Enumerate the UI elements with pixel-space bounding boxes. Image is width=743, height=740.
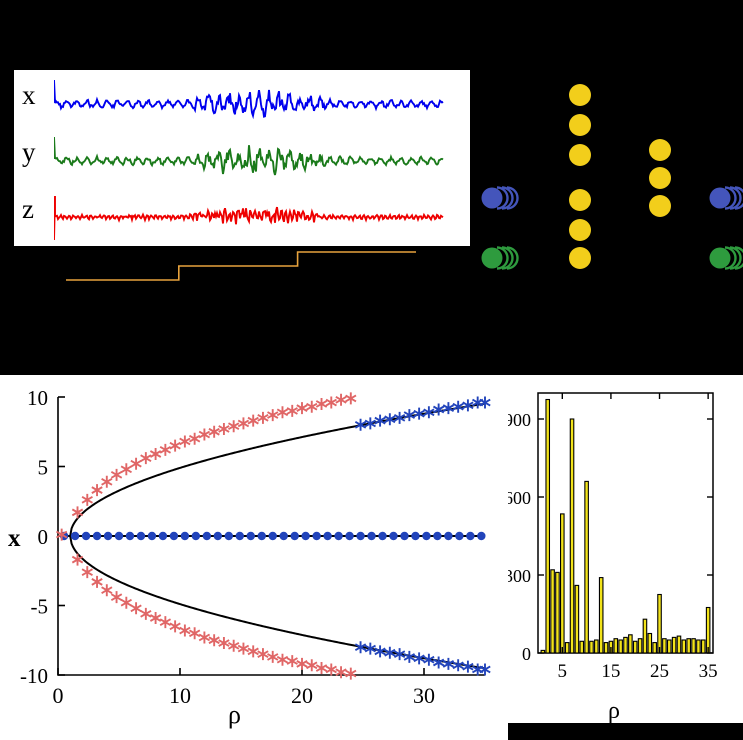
histogram-bar — [556, 572, 560, 653]
bifurcation-marker-train-markers-lower-in-range — [287, 655, 297, 667]
bifurcation-marker-train-markers-upper-in-range — [326, 397, 336, 409]
histogram-bar — [575, 585, 579, 653]
bifurcation-marker-extrapolation-markers-lower — [472, 663, 482, 675]
bifurcation-marker-train-markers-upper-in-range — [238, 417, 248, 429]
histogram-y-tick-label: 600 — [508, 488, 531, 508]
bifurcation-marker-train-markers-lower-in-range — [170, 620, 180, 632]
bifurcation-marker-train-markers-lower-in-range — [121, 597, 131, 609]
bifurcation-y-tick-label: -5 — [31, 595, 49, 619]
bifurcation-marker-train-markers-upper-in-range — [141, 452, 151, 464]
input-node-in-y — [482, 248, 503, 269]
bifurcation-y-tick-label: 5 — [38, 456, 49, 480]
bifurcation-marker-train-markers-lower-in-range — [297, 658, 307, 670]
histogram-bar — [546, 400, 550, 654]
bifurcation-panel: -10-505100102030 — [0, 375, 508, 740]
bifurcation-marker-train-markers-trivial — [247, 532, 255, 540]
output-node-out-y — [710, 248, 731, 269]
histogram-bar — [599, 578, 603, 653]
bifurcation-marker-train-markers-trivial — [378, 532, 386, 540]
bifurcation-marker-train-markers-trivial — [236, 532, 244, 540]
bifurcation-marker-train-markers-lower-in-range — [268, 651, 278, 663]
bifurcation-marker-train-markers-trivial — [280, 532, 288, 540]
network-nodes-svg — [470, 70, 743, 280]
histogram-bar — [614, 639, 618, 653]
bifurcation-marker-train-markers-trivial — [323, 532, 331, 540]
bifurcation-marker-train-markers-lower-in-range — [228, 640, 238, 652]
bifurcation-x-axis-label: ρ — [228, 700, 241, 730]
bifurcation-marker-train-markers-trivial — [466, 532, 474, 540]
timeseries-trace-z — [54, 192, 444, 244]
hidden1-node-4 — [569, 189, 591, 211]
bifurcation-marker-train-markers-trivial — [389, 532, 397, 540]
bifurcation-marker-train-markers-trivial — [71, 532, 79, 540]
bifurcation-marker-train-markers-trivial — [159, 532, 167, 540]
bifurcation-marker-train-markers-trivial — [203, 532, 211, 540]
bifurcation-marker-train-markers-lower-in-range — [111, 591, 121, 603]
bifurcation-marker-train-markers-upper-in-range — [131, 458, 141, 470]
bifurcation-marker-train-markers-upper-in-range — [180, 435, 190, 447]
bifurcation-marker-extrapolation-markers-upper — [480, 397, 490, 409]
histogram-bar — [629, 635, 633, 653]
histogram-x-tick-label: 15 — [601, 661, 620, 682]
bifurcation-marker-train-markers-trivial — [170, 532, 178, 540]
histogram-bar — [570, 419, 574, 653]
bifurcation-marker-train-markers-trivial — [269, 532, 277, 540]
bifurcation-marker-train-markers-upper-in-range — [209, 426, 219, 438]
histogram-y-tick-label: 0 — [522, 644, 531, 664]
histogram-bar — [551, 570, 555, 653]
histogram-bar — [638, 639, 642, 653]
bifurcation-marker-extrapolation-markers-upper — [433, 404, 443, 416]
bifurcation-lower-branch-curve — [70, 536, 485, 668]
histogram-bar — [687, 639, 691, 653]
bifurcation-marker-train-markers-upper-in-range — [82, 494, 92, 506]
histogram-y-tick-label: 900 — [508, 410, 531, 430]
histogram-bar — [663, 639, 667, 653]
histogram-bar — [682, 640, 686, 653]
histogram-bar — [561, 514, 565, 653]
bifurcation-marker-train-markers-upper-in-range — [219, 423, 229, 435]
bifurcation-marker-train-markers-upper-in-range — [72, 506, 82, 518]
bifurcation-x-tick-label: 20 — [291, 683, 313, 708]
bifurcation-marker-train-markers-trivial — [290, 532, 298, 540]
bifurcation-marker-train-markers-trivial — [115, 532, 123, 540]
histogram-bar — [580, 641, 584, 653]
neural-network-diagram — [470, 70, 743, 280]
bifurcation-chart: -10-505100102030 — [0, 375, 508, 740]
bifurcation-marker-train-markers-lower-in-range — [219, 637, 229, 649]
bifurcation-marker-train-markers-lower-in-range — [307, 659, 317, 671]
bifurcation-marker-train-markers-lower-in-range — [346, 668, 356, 680]
histogram-bar — [697, 640, 701, 653]
bifurcation-marker-train-markers-lower-in-range — [92, 576, 102, 588]
bifurcation-marker-train-markers-trivial — [137, 532, 145, 540]
bifurcation-marker-extrapolation-markers-lower — [480, 663, 490, 675]
bifurcation-marker-train-markers-upper-in-range — [121, 463, 131, 475]
bifurcation-marker-train-markers-trivial — [334, 532, 342, 540]
bifurcation-marker-train-markers-lower-in-range — [209, 634, 219, 646]
bifurcation-marker-train-markers-lower-in-range — [199, 631, 209, 643]
histogram-bar — [604, 643, 608, 653]
bifurcation-marker-train-markers-lower-in-range — [180, 625, 190, 637]
bifurcation-marker-train-markers-upper-in-range — [170, 440, 180, 452]
bifurcation-marker-train-markers-lower-in-range — [316, 662, 326, 674]
bifurcation-marker-train-markers-lower-in-range — [238, 643, 248, 655]
rho-step-signal — [60, 240, 420, 290]
histogram-bar — [702, 640, 706, 653]
bifurcation-marker-train-markers-trivial — [444, 532, 452, 540]
bifurcation-marker-train-markers-trivial — [192, 532, 200, 540]
bifurcation-marker-train-markers-lower-in-range — [82, 566, 92, 578]
bifurcation-marker-train-markers-trivial — [477, 532, 485, 540]
bifurcation-marker-train-markers-trivial — [104, 532, 112, 540]
hidden2-node-3 — [649, 195, 671, 217]
bifurcation-marker-train-markers-upper-in-range — [160, 444, 170, 456]
histogram-bar — [633, 641, 637, 653]
bifurcation-y-tick-label: 10 — [27, 386, 48, 410]
bifurcation-marker-train-markers-upper-in-range — [248, 415, 258, 427]
histogram-x-axis-label: ρ — [608, 698, 620, 725]
histogram-bar — [706, 608, 710, 654]
bifurcation-marker-train-markers-trivial — [411, 532, 419, 540]
bifurcation-marker-train-markers-upper-in-range — [346, 392, 356, 404]
histogram-y-tick-label: 300 — [508, 566, 531, 586]
timeseries-trace-x — [54, 78, 444, 130]
rho-histogram-chart: 03006009005152535 — [508, 375, 743, 723]
histogram-bar — [585, 481, 589, 653]
bifurcation-marker-train-markers-upper-in-range — [258, 412, 268, 424]
bifurcation-marker-train-markers-upper-in-range — [336, 394, 346, 406]
hidden2-node-2 — [649, 167, 671, 189]
bifurcation-marker-train-markers-trivial — [258, 532, 266, 540]
bifurcation-y-tick-label: -10 — [20, 664, 48, 688]
input-node-in-x — [482, 188, 503, 209]
bifurcation-marker-train-markers-trivial — [148, 532, 156, 540]
histogram-bar — [658, 595, 662, 654]
timeseries-label-z: z — [22, 196, 34, 223]
bifurcation-x-tick-label: 0 — [53, 683, 64, 708]
hidden1-node-6 — [569, 247, 591, 269]
bifurcation-x-tick-label: 30 — [413, 683, 435, 708]
bifurcation-marker-train-markers-lower-in-range — [160, 616, 170, 628]
bifurcation-marker-train-markers-trivial — [181, 532, 189, 540]
bifurcation-marker-train-markers-lower-in-range — [102, 584, 112, 596]
timeseries-label-x: x — [22, 82, 36, 109]
bifurcation-marker-train-markers-lower-in-range — [189, 627, 199, 639]
bifurcation-marker-train-markers-trivial — [93, 532, 101, 540]
bifurcation-marker-train-markers-trivial — [433, 532, 441, 540]
bifurcation-marker-train-markers-trivial — [367, 532, 375, 540]
bifurcation-marker-train-markers-lower-in-range — [248, 645, 258, 657]
bifurcation-marker-train-markers-trivial — [345, 532, 353, 540]
hidden1-node-2 — [569, 114, 591, 136]
bifurcation-marker-train-markers-trivial — [455, 532, 463, 540]
histogram-bar — [692, 639, 696, 653]
bifurcation-marker-train-markers-lower-in-range — [277, 654, 287, 666]
timeseries-panel: x y z — [14, 70, 470, 246]
bifurcation-marker-extrapolation-markers-lower — [433, 656, 443, 668]
bifurcation-marker-train-markers-lower-in-range — [131, 602, 141, 614]
bifurcation-marker-train-markers-trivial — [422, 532, 430, 540]
bifurcation-marker-train-markers-upper-in-range — [297, 402, 307, 414]
bifurcation-marker-train-markers-upper-in-range — [268, 409, 278, 421]
figure-root: x y z -10-505100102030 x ρ 0300600900515… — [0, 0, 743, 740]
histogram-bar — [668, 640, 672, 653]
bifurcation-marker-train-markers-trivial — [126, 532, 134, 540]
histogram-x-tick-label: 35 — [699, 661, 718, 682]
bifurcation-marker-train-markers-lower-in-range — [336, 666, 346, 678]
histogram-bar — [672, 637, 676, 653]
bifurcation-marker-train-markers-trivial — [301, 532, 309, 540]
bifurcation-marker-train-markers-lower-in-range — [150, 612, 160, 624]
bifurcation-marker-train-markers-upper-in-range — [316, 398, 326, 410]
bifurcation-marker-train-markers-upper-in-range — [189, 433, 199, 445]
bifurcation-marker-train-markers-trivial — [400, 532, 408, 540]
bifurcation-y-tick-label: 0 — [38, 525, 49, 549]
bifurcation-marker-train-markers-trivial — [82, 532, 90, 540]
bifurcation-marker-train-markers-lower-in-range — [258, 648, 268, 660]
bifurcation-marker-train-markers-trivial — [356, 532, 364, 540]
bifurcation-marker-train-markers-upper-in-range — [199, 429, 209, 441]
timeseries-trace-y — [54, 135, 444, 187]
histogram-x-tick-label: 25 — [650, 661, 669, 682]
bifurcation-x-tick-label: 10 — [169, 683, 191, 708]
bifurcation-upper-branch-curve — [70, 404, 485, 536]
histogram-x-tick-label: 5 — [558, 661, 568, 682]
hidden2-node-1 — [649, 139, 671, 161]
bifurcation-y-axis-label: x — [8, 525, 21, 553]
bifurcation-marker-train-markers-upper-in-range — [228, 420, 238, 432]
histogram-bar — [677, 636, 681, 653]
bifurcation-marker-train-markers-upper-in-range — [307, 401, 317, 413]
bifurcation-marker-train-markers-upper-in-range — [92, 484, 102, 496]
output-node-out-x — [710, 188, 731, 209]
histogram-bar — [595, 640, 599, 653]
bifurcation-marker-train-markers-upper-in-range — [150, 448, 160, 460]
bifurcation-marker-train-markers-lower-in-range — [326, 663, 336, 675]
bifurcation-marker-train-markers-upper-in-range — [287, 405, 297, 417]
bifurcation-marker-extrapolation-markers-upper — [472, 397, 482, 409]
hidden1-node-1 — [569, 84, 591, 106]
bifurcation-marker-train-markers-upper-in-range — [102, 476, 112, 488]
histogram-bar — [643, 619, 647, 653]
histogram-bar — [648, 634, 652, 654]
histogram-bar — [590, 641, 594, 653]
histogram-bar — [565, 643, 569, 653]
bifurcation-marker-train-markers-trivial — [312, 532, 320, 540]
bifurcation-marker-train-markers-trivial — [214, 532, 222, 540]
histogram-panel: 03006009005152535 — [508, 375, 743, 723]
timeseries-label-y: y — [22, 139, 36, 166]
bifurcation-marker-train-markers-trivial — [225, 532, 233, 540]
bifurcation-marker-train-markers-upper-in-range — [111, 469, 121, 481]
bifurcation-marker-train-markers-upper-in-range — [277, 406, 287, 418]
hidden1-node-5 — [569, 219, 591, 241]
bifurcation-marker-train-markers-lower-in-range — [72, 554, 82, 566]
hidden1-node-3 — [569, 144, 591, 166]
histogram-bar — [624, 637, 628, 653]
histogram-bar — [619, 640, 623, 653]
bifurcation-marker-train-markers-lower-in-range — [141, 608, 151, 620]
histogram-bar — [653, 643, 657, 653]
